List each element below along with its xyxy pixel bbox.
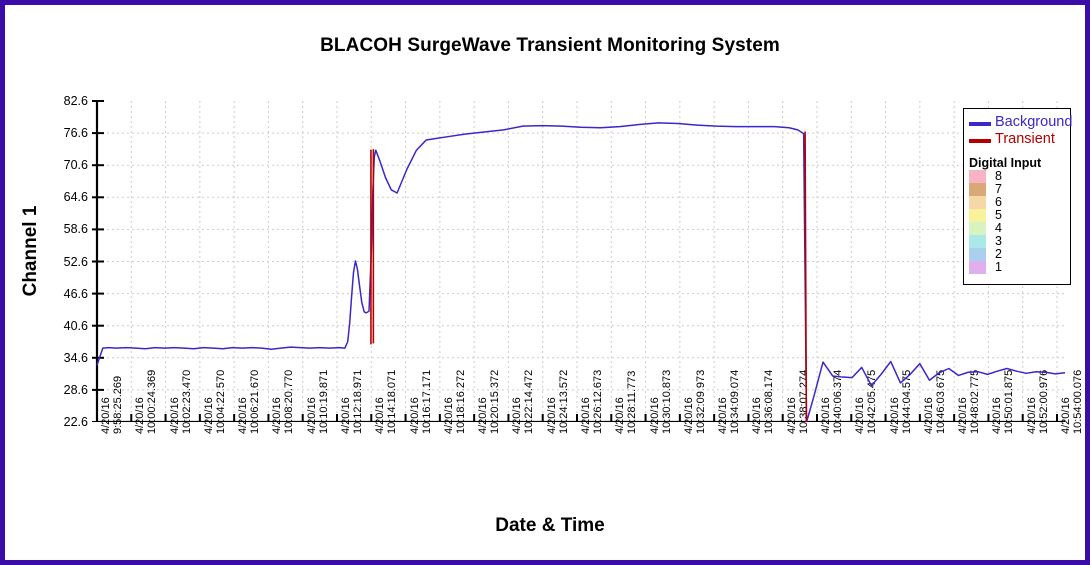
chart-svg bbox=[92, 96, 1065, 422]
digital-input-swatch bbox=[969, 170, 986, 183]
legend-color-swatch bbox=[969, 139, 991, 143]
legend-entry-background[interactable]: Background bbox=[969, 115, 1070, 132]
digital-input-number: 4 bbox=[995, 221, 1002, 235]
digital-input-swatch bbox=[969, 209, 986, 222]
legend: BackgroundTransient Digital Input 876543… bbox=[963, 108, 1071, 285]
digital-input-title: Digital Input bbox=[969, 156, 1070, 170]
digital-input-number: 1 bbox=[995, 260, 1002, 274]
digital-input-1[interactable]: 1 bbox=[969, 261, 1070, 274]
digital-input-swatch bbox=[969, 222, 986, 235]
gridlines bbox=[97, 101, 1065, 422]
digital-input-3[interactable]: 3 bbox=[969, 235, 1070, 248]
digital-input-swatch bbox=[969, 261, 986, 274]
digital-input-number: 3 bbox=[995, 234, 1002, 248]
digital-input-6[interactable]: 6 bbox=[969, 196, 1070, 209]
legend-color-swatch bbox=[969, 122, 991, 126]
digital-input-number: 6 bbox=[995, 195, 1002, 209]
digital-input-swatch bbox=[969, 196, 986, 209]
digital-input-5[interactable]: 5 bbox=[969, 209, 1070, 222]
legend-label: Background bbox=[995, 114, 1072, 130]
x-tick-time: 10:54:00.076 bbox=[1073, 370, 1085, 434]
digital-input-7[interactable]: 7 bbox=[969, 183, 1070, 196]
legend-entry-transient[interactable]: Transient bbox=[969, 132, 1070, 149]
transient-line bbox=[805, 131, 806, 422]
plot-area bbox=[92, 96, 1065, 422]
digital-input-swatch bbox=[969, 235, 986, 248]
digital-input-swatch bbox=[969, 183, 986, 196]
x-axis-title: Date & Time bbox=[10, 515, 1090, 537]
digital-input-4[interactable]: 4 bbox=[969, 222, 1070, 235]
digital-input-number: 2 bbox=[995, 247, 1002, 261]
chart-canvas: BLACOH SurgeWave Transient Monitoring Sy… bbox=[10, 10, 1080, 555]
digital-input-8[interactable]: 8 bbox=[969, 170, 1070, 183]
legend-label: Transient bbox=[995, 131, 1055, 147]
digital-input-number: 7 bbox=[995, 182, 1002, 196]
chart-window: BLACOH SurgeWave Transient Monitoring Sy… bbox=[0, 0, 1090, 565]
digital-input-swatch bbox=[969, 248, 986, 261]
digital-input-number: 5 bbox=[995, 208, 1002, 222]
digital-input-2[interactable]: 2 bbox=[969, 248, 1070, 261]
digital-input-number: 8 bbox=[995, 169, 1002, 183]
